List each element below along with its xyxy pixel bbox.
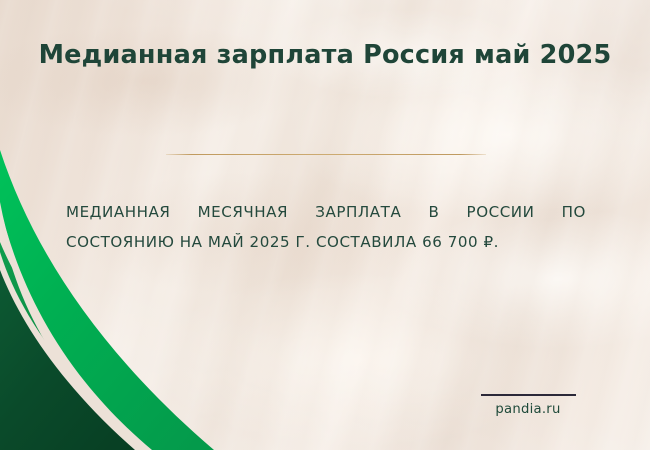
page-title: Медианная зарплата Россия май 2025 bbox=[0, 40, 650, 70]
footer-source-label: pandia.ru bbox=[461, 402, 595, 417]
slide-canvas: Медианная зарплата Россия май 2025 МЕДИА… bbox=[0, 0, 650, 450]
body-word: МЕСЯЧНАЯ bbox=[198, 197, 289, 227]
body-word: РОССИИ bbox=[467, 197, 535, 227]
gold-divider bbox=[166, 154, 486, 155]
body-word: ПО bbox=[562, 197, 586, 227]
body-text-block: МЕДИАННАЯ МЕСЯЧНАЯ ЗАРПЛАТА В РОССИИ ПО … bbox=[66, 197, 586, 257]
body-word: ЗАРПЛАТА bbox=[315, 197, 401, 227]
body-word: В bbox=[428, 197, 439, 227]
green-swoosh-decoration bbox=[0, 150, 320, 450]
body-text-line-2: СОСТОЯНИЮ НА МАЙ 2025 Г. СОСТАВИЛА 66 70… bbox=[66, 227, 586, 257]
body-text-line-1: МЕДИАННАЯ МЕСЯЧНАЯ ЗАРПЛАТА В РОССИИ ПО bbox=[66, 197, 586, 227]
footer: pandia.ru bbox=[461, 394, 595, 417]
footer-rule bbox=[481, 394, 576, 396]
body-word: МЕДИАННАЯ bbox=[66, 197, 170, 227]
